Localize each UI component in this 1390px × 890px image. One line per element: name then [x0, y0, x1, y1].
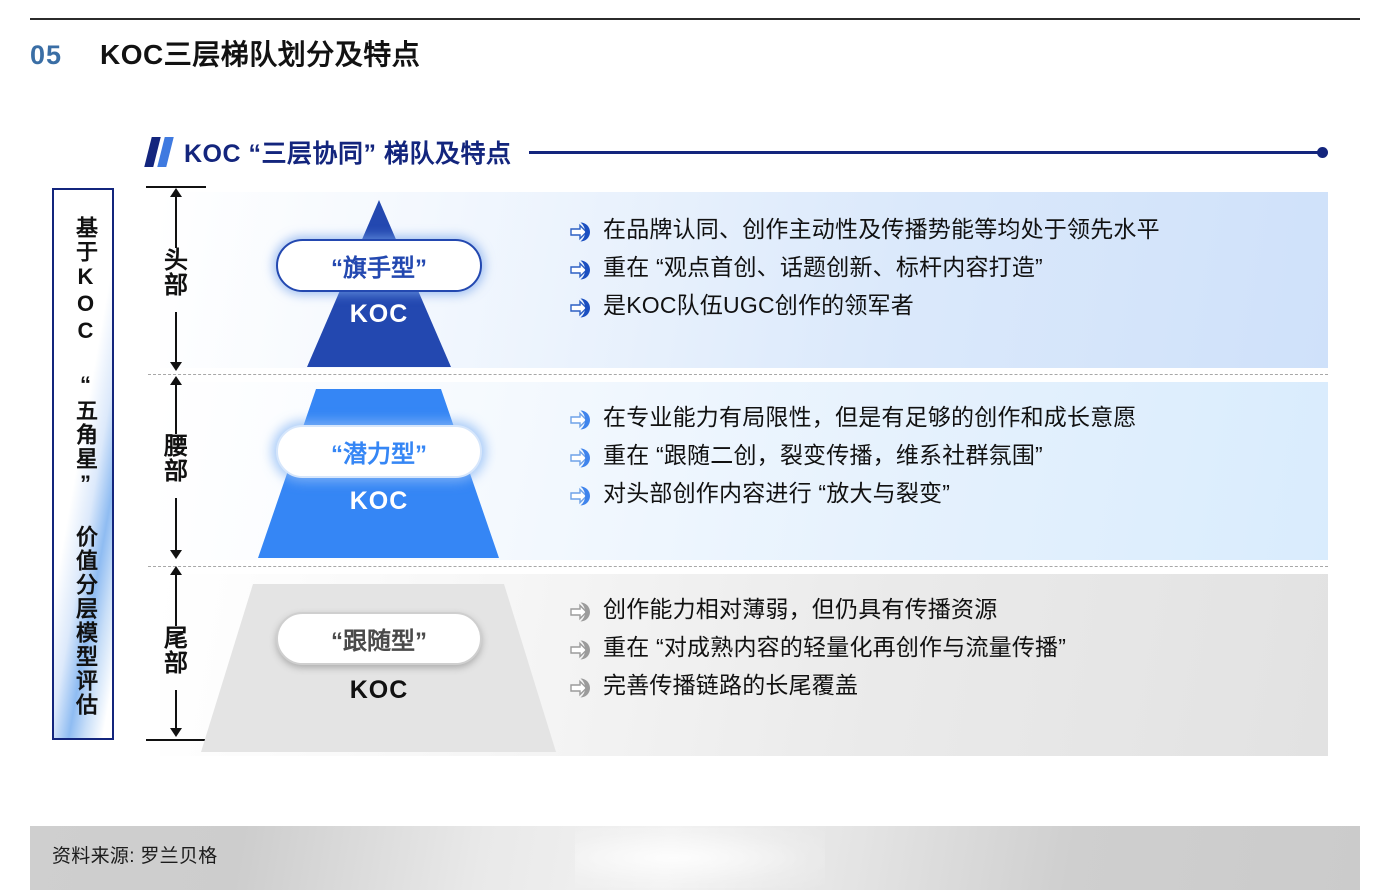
bullet-group-tail: 创作能力相对薄弱，但仍具有传播资源 重在 “对成熟内容的轻量化再创作与流量传播”…	[568, 596, 1328, 710]
arrow-bullet-icon	[568, 295, 594, 321]
bullet-item: 创作能力相对薄弱，但仍具有传播资源	[568, 596, 1328, 625]
bullet-item: 在专业能力有局限性，但是有足够的创作和成长意愿	[568, 404, 1328, 433]
pill-label-tail[interactable]: “跟随型”	[276, 612, 482, 665]
arrow-bullet-icon	[568, 675, 594, 701]
koc-label-tail: KOC	[276, 676, 482, 705]
bullet-group-waist: 在专业能力有局限性，但是有足够的创作和成长意愿 重在 “跟随二创，裂变传播，维系…	[568, 404, 1328, 518]
bullet-item: 完善传播链路的长尾覆盖	[568, 672, 1328, 701]
bullet-text: 重在 “对成熟内容的轻量化再创作与流量传播”	[603, 634, 1066, 661]
bullet-text: 在品牌认同、创作主动性及传播势能等均处于领先水平	[603, 216, 1160, 243]
pill-label-head[interactable]: “旗手型”	[276, 239, 482, 292]
source-note: 资料来源: 罗兰贝格	[52, 841, 218, 868]
arrow-bullet-icon	[568, 445, 594, 471]
arrow-bullet-icon	[568, 599, 594, 625]
bullet-text: 重在 “观点首创、话题创新、标杆内容打造”	[603, 254, 1043, 281]
bullet-item: 对头部创作内容进行 “放大与裂变”	[568, 480, 1328, 509]
bullet-item: 重在 “观点首创、话题创新、标杆内容打造”	[568, 254, 1328, 283]
koc-label-waist: KOC	[276, 487, 482, 516]
bullet-group-head: 在品牌认同、创作主动性及传播势能等均处于领先水平 重在 “观点首创、话题创新、标…	[568, 216, 1328, 330]
arrow-bullet-icon	[568, 637, 594, 663]
pill-label-waist[interactable]: “潜力型”	[276, 425, 482, 478]
bullet-text: 在专业能力有局限性，但是有足够的创作和成长意愿	[603, 404, 1137, 431]
bullet-text: 对头部创作内容进行 “放大与裂变”	[603, 480, 950, 507]
arrow-bullet-icon	[568, 483, 594, 509]
bullet-text: 完善传播链路的长尾覆盖	[603, 672, 858, 699]
koc-label-head: KOC	[276, 300, 482, 329]
footer-watermark	[575, 828, 825, 888]
bullet-item: 在品牌认同、创作主动性及传播势能等均处于领先水平	[568, 216, 1328, 245]
pyramid-tier-tail	[201, 584, 556, 752]
bullet-text: 重在 “跟随二创，裂变传播，维系社群氛围”	[603, 442, 1043, 469]
bullet-item: 是KOC队伍UGC创作的领军者	[568, 292, 1328, 321]
bullet-text: 是KOC队伍UGC创作的领军者	[603, 292, 914, 319]
arrow-bullet-icon	[568, 407, 594, 433]
bullet-item: 重在 “对成熟内容的轻量化再创作与流量传播”	[568, 634, 1328, 663]
bullet-text: 创作能力相对薄弱，但仍具有传播资源	[603, 596, 997, 623]
arrow-bullet-icon	[568, 257, 594, 283]
bullet-item: 重在 “跟随二创，裂变传播，维系社群氛围”	[568, 442, 1328, 471]
arrow-bullet-icon	[568, 219, 594, 245]
